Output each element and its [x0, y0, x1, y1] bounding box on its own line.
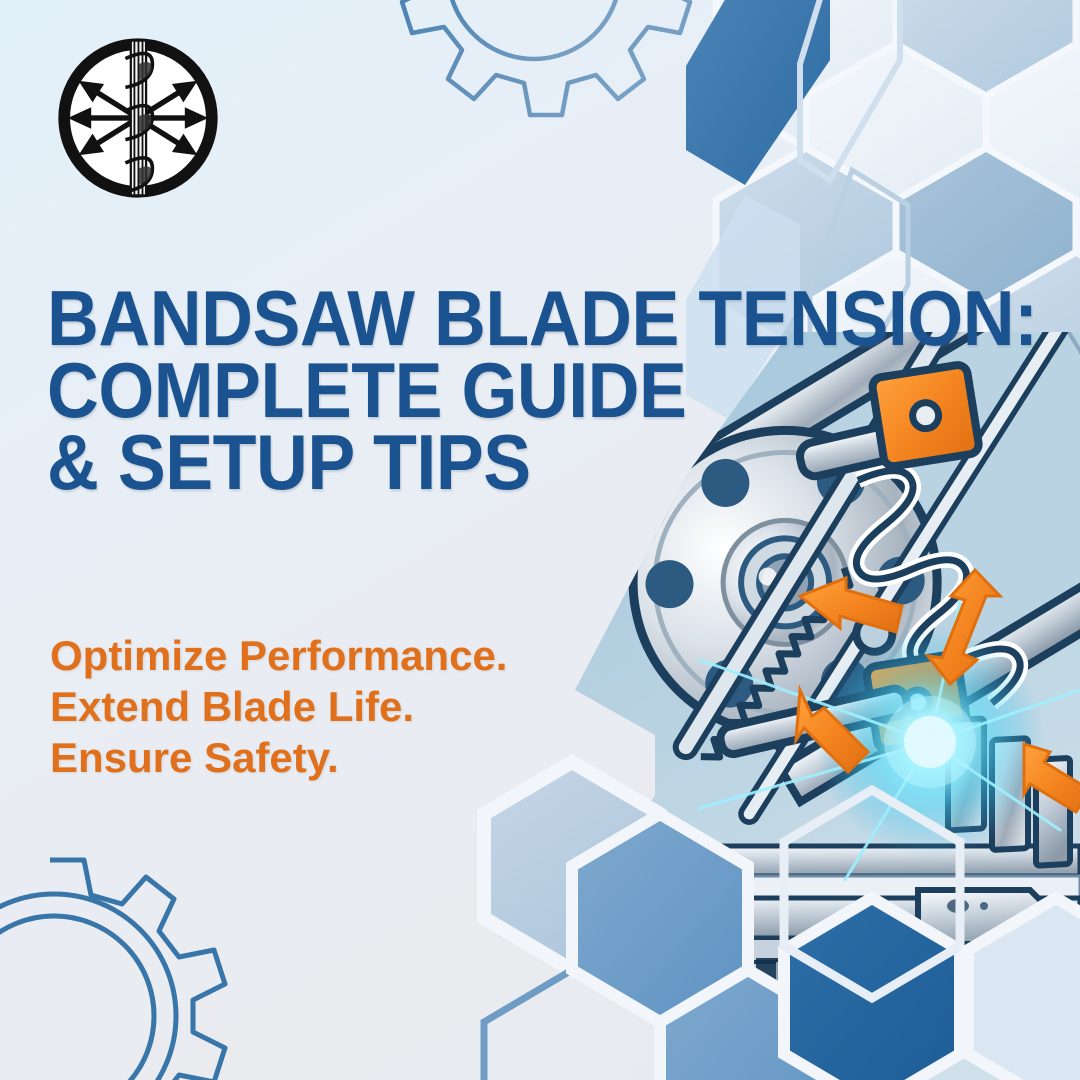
subtitle-line-3: Ensure Safety. — [50, 732, 507, 783]
title-line-1: BANDSAW BLADE TENSION: — [47, 283, 903, 355]
title-line-2: COMPLETE GUIDE — [47, 355, 903, 427]
title-line-3: & SETUP TIPS — [47, 427, 903, 499]
bandsaw-blade-tension-logo[interactable] — [48, 28, 228, 208]
hexagon-overlay-deep-blue — [784, 898, 960, 1080]
subtitle-line-2: Extend Blade Life. — [50, 681, 507, 732]
subtitle-line-1: Optimize Performance. — [50, 630, 507, 681]
page-title: BANDSAW BLADE TENSION: COMPLETE GUIDE & … — [47, 283, 977, 498]
poster-canvas: BANDSAW BLADE TENSION: COMPLETE GUIDE & … — [0, 0, 1080, 1080]
page-subtitle: Optimize Performance. Extend Blade Life.… — [50, 630, 507, 784]
hexagon-overlay-outline-far-right — [968, 898, 1080, 1080]
